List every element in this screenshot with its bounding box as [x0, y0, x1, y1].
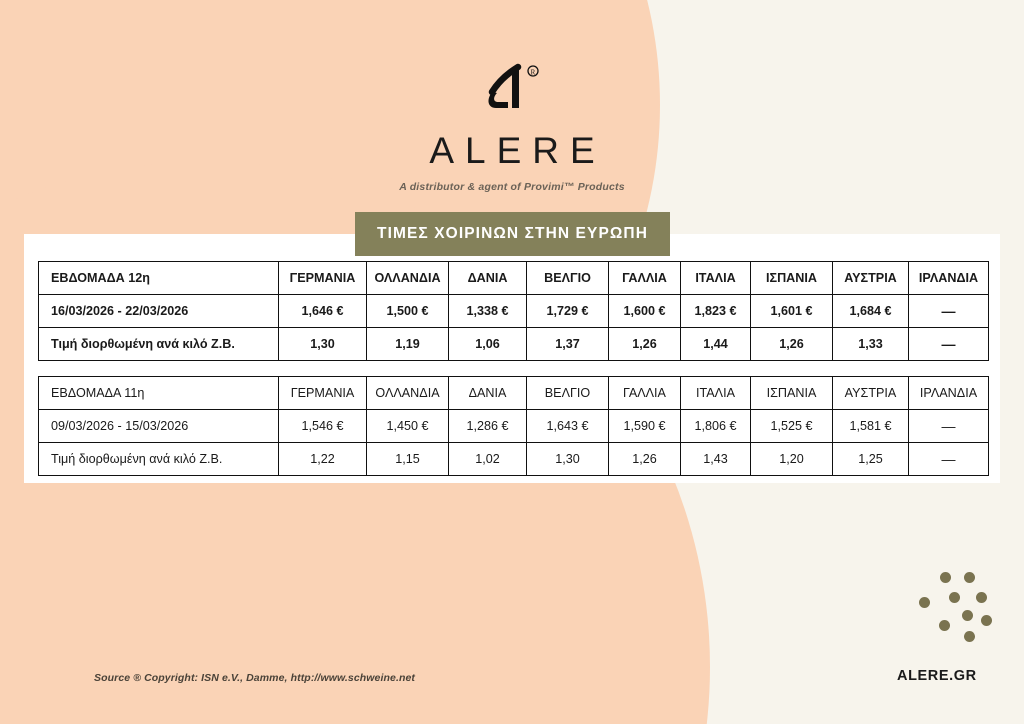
cell-value: 1,729 €: [527, 295, 609, 328]
table-row: Τιμή διορθωμένη ανά κιλό Ζ.Β. 1,30 1,19 …: [39, 328, 989, 361]
cell-value: —: [909, 410, 989, 443]
cell-value: 1,26: [609, 443, 681, 476]
cell-value: 1,37: [527, 328, 609, 361]
brand-header: R ALERE A distributor & agent of Provimi…: [0, 62, 1024, 193]
table-row: Τιμή διορθωμένη ανά κιλό Ζ.Β. 1,22 1,15 …: [39, 443, 989, 476]
column-header-ispania: ΙΣΠΑΝΙΑ: [751, 377, 833, 410]
table-row: 16/03/2026 - 22/03/2026 1,646 € 1,500 € …: [39, 295, 989, 328]
cell-value: 1,30: [279, 328, 367, 361]
cell-value: 1,806 €: [681, 410, 751, 443]
cell-value: 1,26: [609, 328, 681, 361]
title-banner: ΤΙΜΕΣ ΧΟΙΡΙΝΩΝ ΣΤΗΝ ΕΥΡΩΠΗ: [355, 212, 670, 256]
column-header-germania: ΓΕΡΜΑΝΙΑ: [279, 377, 367, 410]
brand-tagline: A distributor & agent of Provimi™ Produc…: [0, 181, 1024, 193]
column-header-germania: ΓΕΡΜΑΝΙΑ: [279, 262, 367, 295]
column-header-dania: ΔΑΝΙΑ: [449, 377, 527, 410]
row-label-corrected-price: Τιμή διορθωμένη ανά κιλό Ζ.Β.: [39, 328, 279, 361]
cell-value: 1,19: [367, 328, 449, 361]
week-label: ΕΒΔΟΜΑΔΑ 11η: [39, 377, 279, 410]
cell-value: 1,22: [279, 443, 367, 476]
table-header-row: ΕΒΔΟΜΑΔΑ 11η ΓΕΡΜΑΝΙΑ ΟΛΛΑΝΔΙΑ ΔΑΝΙΑ ΒΕΛ…: [39, 377, 989, 410]
column-header-gallia: ΓΑΛΛΙΑ: [609, 377, 681, 410]
column-header-gallia: ΓΑΛΛΙΑ: [609, 262, 681, 295]
cell-value: 1,590 €: [609, 410, 681, 443]
cell-value: 1,25: [833, 443, 909, 476]
week-label: ΕΒΔΟΜΑΔΑ 12η: [39, 262, 279, 295]
column-header-velgio: ΒΕΛΓΙΟ: [527, 377, 609, 410]
scatter-dots-icon: [916, 568, 990, 642]
cell-value: —: [909, 443, 989, 476]
column-header-ollandia: ΟΛΛΑΝΔΙΑ: [367, 377, 449, 410]
cell-value: 1,601 €: [751, 295, 833, 328]
cell-value: 1,338 €: [449, 295, 527, 328]
column-header-italia: ΙΤΑΛΙΑ: [681, 377, 751, 410]
cell-value: 1,525 €: [751, 410, 833, 443]
cell-value: 1,33: [833, 328, 909, 361]
cell-value: 1,20: [751, 443, 833, 476]
cell-value: 1,643 €: [527, 410, 609, 443]
poster-canvas: R ALERE A distributor & agent of Provimi…: [0, 0, 1024, 724]
column-header-italia: ΙΤΑΛΙΑ: [681, 262, 751, 295]
cell-value: 1,43: [681, 443, 751, 476]
cell-value: 1,546 €: [279, 410, 367, 443]
cell-value: 1,286 €: [449, 410, 527, 443]
cell-value: 1,06: [449, 328, 527, 361]
brand-name: ALERE: [0, 130, 1024, 172]
column-header-irlandia: ΙΡΛΑΝΔΙΑ: [909, 377, 989, 410]
alere-a-mark-icon: R: [475, 62, 549, 114]
cell-value: 1,44: [681, 328, 751, 361]
cell-value: 1,15: [367, 443, 449, 476]
cell-value: 1,26: [751, 328, 833, 361]
table-header-row: ΕΒΔΟΜΑΔΑ 12η ΓΕΡΜΑΝΙΑ ΟΛΛΑΝΔΙΑ ΔΑΝΙΑ ΒΕΛ…: [39, 262, 989, 295]
cell-value: 1,600 €: [609, 295, 681, 328]
price-table-week12: ΕΒΔΟΜΑΔΑ 12η ΓΕΡΜΑΝΙΑ ΟΛΛΑΝΔΙΑ ΔΑΝΙΑ ΒΕΛ…: [38, 261, 989, 361]
page-title: ΤΙΜΕΣ ΧΟΙΡΙΝΩΝ ΣΤΗΝ ΕΥΡΩΠΗ: [377, 225, 648, 243]
column-header-ispania: ΙΣΠΑΝΙΑ: [751, 262, 833, 295]
column-header-irlandia: ΙΡΛΑΝΔΙΑ: [909, 262, 989, 295]
column-header-ollandia: ΟΛΛΑΝΔΙΑ: [367, 262, 449, 295]
source-credit: Source ® Copyright: ISN e.V., Damme, htt…: [94, 672, 415, 684]
cell-value: 1,450 €: [367, 410, 449, 443]
cell-value: 1,646 €: [279, 295, 367, 328]
table-row: 09/03/2026 - 15/03/2026 1,546 € 1,450 € …: [39, 410, 989, 443]
price-tables: ΕΒΔΟΜΑΔΑ 12η ΓΕΡΜΑΝΙΑ ΟΛΛΑΝΔΙΑ ΔΑΝΙΑ ΒΕΛ…: [38, 261, 988, 476]
row-label-date-range: 16/03/2026 - 22/03/2026: [39, 295, 279, 328]
cell-value: 1,684 €: [833, 295, 909, 328]
svg-text:R: R: [531, 68, 536, 76]
cell-value: —: [909, 328, 989, 361]
cell-value: 1,500 €: [367, 295, 449, 328]
row-label-corrected-price: Τιμή διορθωμένη ανά κιλό Ζ.Β.: [39, 443, 279, 476]
row-label-date-range: 09/03/2026 - 15/03/2026: [39, 410, 279, 443]
cell-value: —: [909, 295, 989, 328]
cell-value: 1,02: [449, 443, 527, 476]
cell-value: 1,581 €: [833, 410, 909, 443]
column-header-velgio: ΒΕΛΓΙΟ: [527, 262, 609, 295]
cell-value: 1,823 €: [681, 295, 751, 328]
column-header-dania: ΔΑΝΙΑ: [449, 262, 527, 295]
cell-value: 1,30: [527, 443, 609, 476]
column-header-afstria: ΑΥΣΤΡΙΑ: [833, 377, 909, 410]
website-label: ALERE.GR: [897, 668, 977, 684]
column-header-afstria: ΑΥΣΤΡΙΑ: [833, 262, 909, 295]
price-table-week11: ΕΒΔΟΜΑΔΑ 11η ΓΕΡΜΑΝΙΑ ΟΛΛΑΝΔΙΑ ΔΑΝΙΑ ΒΕΛ…: [38, 376, 989, 476]
